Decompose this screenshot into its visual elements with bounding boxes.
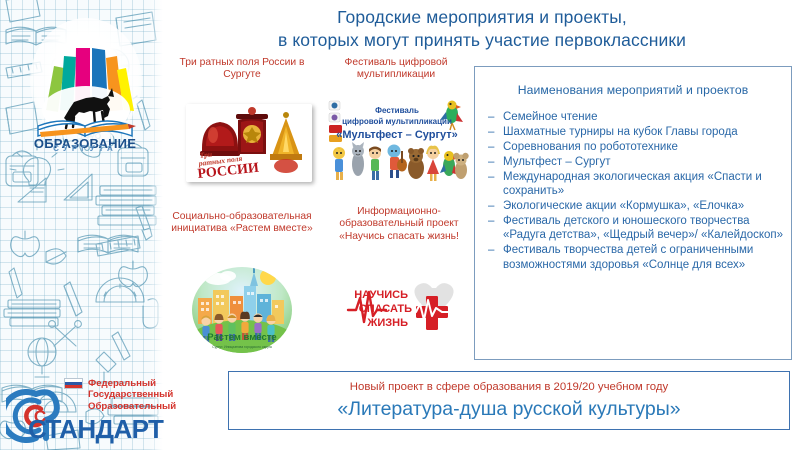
list-item: Фестиваль творчества детей с ограниченны…	[481, 243, 791, 272]
new-project-banner: Новый проект в сфере образования в 2019/…	[228, 371, 790, 430]
new-project-title: «Литература-душа русской культуры»	[229, 397, 789, 421]
list-item: Экологические акции «Кормушка», «Елочка»	[481, 199, 791, 213]
nauchis-line-2: СПАСАТЬ	[359, 303, 412, 315]
events-list: Семейное чтение Шахматные турниры на куб…	[481, 110, 791, 272]
slide-title: Городские мероприятия и проекты, в котор…	[168, 6, 796, 52]
fgos-logo: С Федеральный Государственный Образовате…	[6, 372, 202, 446]
slide-title-line-2: в которых могут принять участие первокла…	[168, 29, 796, 52]
events-panel-title: Наименования мероприятий и проектов	[475, 83, 791, 97]
obrazovanie-surguta-logo: ОБРАЗОВАНИЕ СУРГУТА	[24, 14, 146, 152]
slide-canvas: ОБРАЗОВАНИЕ СУРГУТА Городские мероприяти…	[0, 0, 800, 450]
list-item: Семейное чтение	[481, 110, 791, 124]
multfest-line-3: «Мультфест – Сургут»	[336, 129, 458, 141]
multfest-banner-image: Фестиваль цифровой мультипликации «Мульт…	[324, 96, 470, 184]
rastem-badge-subtitle: Сургут. Инициатива городского округа	[212, 345, 272, 349]
list-item: Соревнования по робототехнике	[481, 140, 791, 154]
fgos-text-block: Федеральный Государственный Образователь…	[88, 378, 176, 412]
caption-multfest: Фестиваль цифровой мультипликации	[330, 57, 462, 82]
caption-nauchis-spasat: Информационно-образовательный проект «На…	[332, 206, 466, 243]
ratnye-polya-poster-image: Три ратных поля РОССИИ	[186, 104, 312, 182]
list-item: Шахматные турниры на кубок Главы города	[481, 125, 791, 139]
fgos-line-1: Федеральный	[88, 378, 176, 389]
russian-flag-icon	[64, 378, 83, 389]
caption-ratnye-polya: Три ратных поля России в Сургуте	[168, 57, 316, 82]
slide-title-line-1: Городские мероприятия и проекты,	[168, 6, 796, 29]
list-item: Фестиваль детского и юношеского творчест…	[481, 214, 791, 243]
nauchis-line-3: ЖИЗНЬ	[366, 317, 408, 329]
fgos-line-3: Образовательный	[88, 401, 176, 412]
list-item: Международная экологическая акция «Спаст…	[481, 170, 791, 199]
fgos-standart-word: СТАНДАРТ	[28, 414, 163, 445]
logo-wordmark-sub: СУРГУТА	[24, 144, 146, 153]
multfest-line-2: цифровой мультипликации	[342, 117, 452, 126]
nauchis-line-1: НАУЧИСЬ	[354, 289, 408, 301]
nauchis-spasat-zhizn-logo-image: НАУЧИСЬ СПАСАТЬ ЖИЗНЬ	[346, 278, 464, 340]
rastem-badge-title: Растем вместе	[207, 332, 276, 343]
list-item: Мультфест – Сургут	[481, 155, 791, 169]
new-project-subtitle: Новый проект в сфере образования в 2019/…	[229, 380, 789, 394]
events-panel: Наименования мероприятий и проектов Семе…	[474, 66, 792, 360]
multfest-line-1: Фестиваль	[375, 106, 419, 115]
rastem-vmeste-badge-image: Растем вместе Сургут. Инициатива городск…	[190, 266, 294, 354]
caption-rastem-vmeste: Социально-образовательная инициатива «Ра…	[166, 211, 318, 236]
fgos-line-2: Государственный	[88, 389, 176, 400]
